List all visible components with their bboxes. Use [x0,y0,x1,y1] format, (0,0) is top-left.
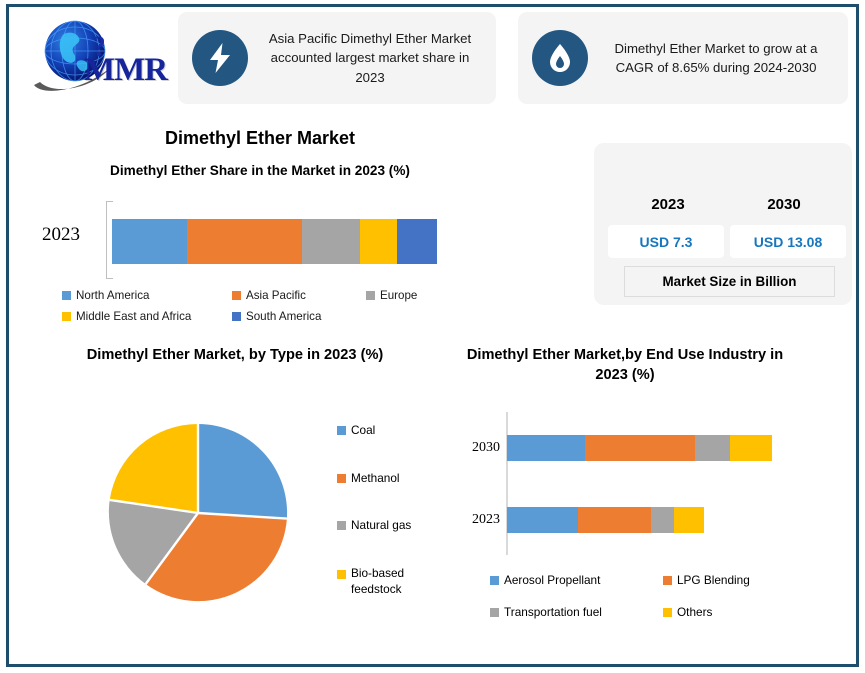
page-title: Dimethyl Ether Market [0,128,520,149]
legend-item-natural-gas[interactable]: Natural gas [337,518,411,532]
header-card-cagr-text: Dimethyl Ether Market to grow at a CAGR … [598,39,848,77]
legend-label-natural-gas: Natural gas [351,518,411,532]
header-card-region: Asia Pacific Dimethyl Ether Market accou… [178,12,496,104]
region-segment-south-america[interactable] [397,219,437,264]
legend-label-aerosol-propellant: Aerosol Propellant [504,573,600,587]
region-stacked-bar [112,219,437,264]
legend-swatch-others [663,608,672,617]
pie-slice-coal-shape[interactable] [198,424,287,519]
legend-label-bio-based-feedstock: Bio-based feedstock [351,566,417,598]
legend-swatch-bio-based-feedstock [337,570,346,579]
legend-label-europe: Europe [380,289,417,302]
legend-swatch-north-america [62,291,71,300]
region-segment-europe[interactable] [302,219,360,264]
legend-swatch-natural-gas [337,521,346,530]
legend-label-asia-pacific: Asia Pacific [246,289,306,302]
legend-item-south-america[interactable]: South America [232,310,321,323]
region-segment-asia-pacific[interactable] [187,219,302,264]
end-use-stacked-bar-2023 [507,507,704,533]
legend-item-asia-pacific[interactable]: Asia Pacific [232,289,306,302]
legend-label-lpg-blending: LPG Blending [677,573,750,587]
legend-item-bio-based-feedstock[interactable]: Bio-based feedstock [337,566,417,598]
legend-item-transportation-fuel[interactable]: Transportation fuel [490,605,602,619]
kpi-year-2023: 2023 [606,196,730,213]
region-chart-title: Dimethyl Ether Share in the Market in 20… [0,163,520,178]
kpi-value-2023: USD 7.3 [608,225,724,258]
header-card-region-text: Asia Pacific Dimethyl Ether Market accou… [258,29,496,86]
pie-slice-bio-based[interactable] [110,424,198,513]
legend-item-lpg-blending[interactable]: LPG Blending [663,573,750,587]
legend-item-methanol[interactable]: Methanol [337,471,400,485]
legend-label-transportation-fuel: Transportation fuel [504,605,602,619]
legend-label-middle-east-africa: Middle East and Africa [76,310,191,323]
end-use-chart-title: Dimethyl Ether Market,by End Use Industr… [460,346,790,385]
logo-text: MMR [84,52,167,89]
end-use-2030-segment-lpg-blending[interactable] [585,435,695,461]
legend-swatch-aerosol-propellant [490,576,499,585]
end-use-2030-segment-aerosol-propellant[interactable] [507,435,585,461]
region-segment-middle-east-africa[interactable] [360,219,397,264]
type-chart-title: Dimethyl Ether Market, by Type in 2023 (… [55,346,415,366]
legend-swatch-middle-east-africa [62,312,71,321]
legend-item-north-america[interactable]: North America [62,289,149,302]
legend-swatch-europe [366,291,375,300]
lightning-bolt-icon [192,30,248,86]
legend-label-south-america: South America [246,310,321,323]
legend-item-others[interactable]: Others [663,605,712,619]
kpi-year-2030: 2030 [722,196,846,213]
end-use-2030-segment-others[interactable] [730,435,772,461]
legend-item-middle-east-africa[interactable]: Middle East and Africa [62,310,191,323]
legend-swatch-south-america [232,312,241,321]
legend-item-aerosol-propellant[interactable]: Aerosol Propellant [490,573,600,587]
mmr-logo: ? MMR [14,8,172,100]
legend-item-europe[interactable]: Europe [366,289,417,302]
region-chart-category-label: 2023 [42,224,80,246]
legend-label-north-america: North America [76,289,149,302]
kpi-caption: Market Size in Billion [624,266,835,297]
legend-swatch-lpg-blending [663,576,672,585]
kpi-value-2030: USD 13.08 [730,225,846,258]
end-use-2023-segment-transportation-fuel[interactable] [651,507,674,533]
type-pie-chart [108,423,288,603]
legend-item-coal[interactable]: Coal [337,423,375,437]
header-card-cagr: Dimethyl Ether Market to grow at a CAGR … [518,12,848,104]
flame-drop-glyph [548,43,572,73]
end-use-2030-segment-transportation-fuel[interactable] [695,435,730,461]
legend-swatch-asia-pacific [232,291,241,300]
end-use-2023-segment-others[interactable] [674,507,704,533]
end-use-category-2030: 2030 [440,440,500,456]
legend-swatch-coal [337,426,346,435]
legend-label-coal: Coal [351,423,375,437]
legend-swatch-transportation-fuel [490,608,499,617]
flame-drop-icon [532,30,588,86]
region-segment-north-america[interactable] [112,219,187,264]
legend-label-methanol: Methanol [351,471,400,485]
end-use-stacked-bar-2030 [507,435,772,461]
lightning-bolt-glyph [207,42,233,74]
end-use-category-2023: 2023 [440,512,500,528]
legend-label-others: Others [677,605,712,619]
end-use-2023-segment-aerosol-propellant[interactable] [507,507,578,533]
infographic-root: ? MMR Asia Pacific Dimethyl Ether Market… [0,0,865,673]
end-use-chart-axis [506,412,508,555]
end-use-2023-segment-lpg-blending[interactable] [578,507,651,533]
legend-swatch-methanol [337,474,346,483]
